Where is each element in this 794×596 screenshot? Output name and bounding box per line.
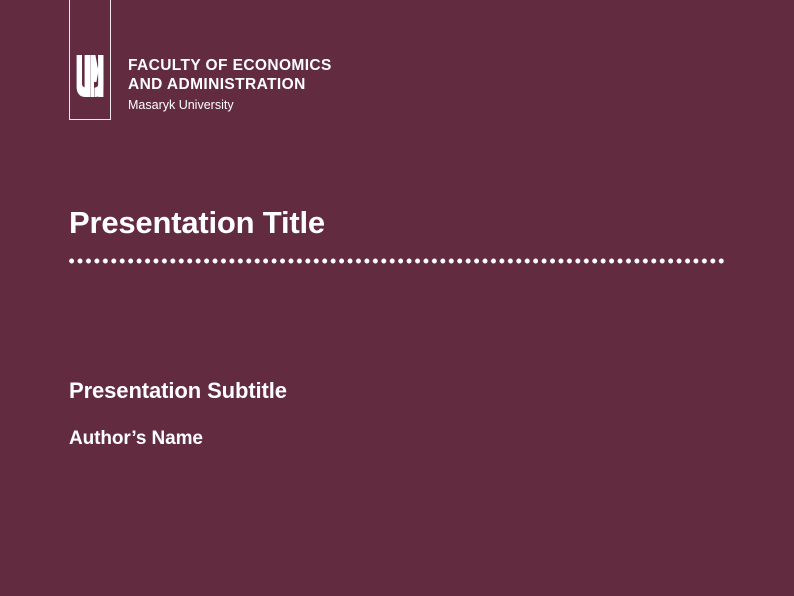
dotted-divider [69,258,727,264]
brand-logo-block: FACULTY OF ECONOMICS AND ADMINISTRATION … [69,0,332,120]
faculty-name-block: FACULTY OF ECONOMICS AND ADMINISTRATION … [128,56,332,113]
faculty-line-1: FACULTY OF ECONOMICS [128,56,332,75]
masaryk-university-mu-mark-icon [75,55,105,97]
logo-frame [69,0,111,120]
page-title: Presentation Title [69,205,325,241]
faculty-line-2: AND ADMINISTRATION [128,75,332,94]
presentation-title-slide: FACULTY OF ECONOMICS AND ADMINISTRATION … [0,0,794,596]
university-name: Masaryk University [128,97,332,113]
author-name: Author’s Name [69,428,203,450]
page-subtitle: Presentation Subtitle [69,378,287,404]
